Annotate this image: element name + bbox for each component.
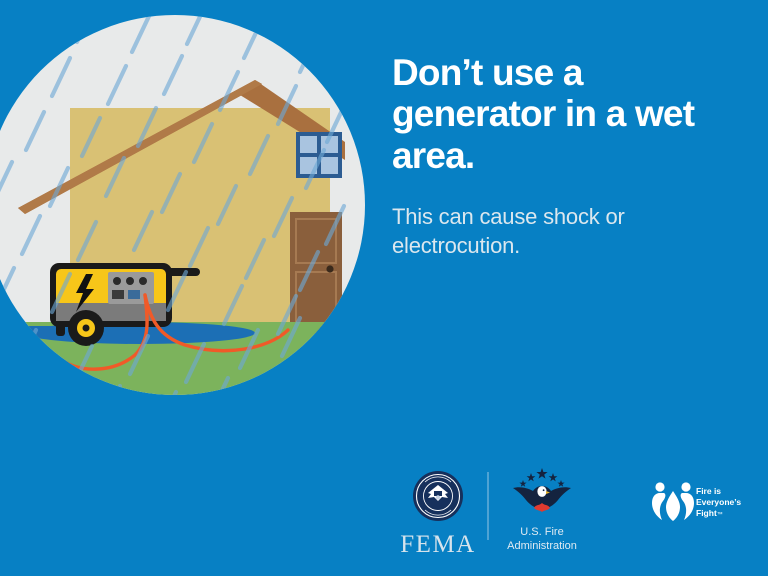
trademark-mark: ™ <box>717 512 723 518</box>
usfa-wordmark: U.S. Fire Administration <box>500 526 584 554</box>
page-title: Don’t use a generator in a wet area. <box>392 52 722 176</box>
usfa-logo: U.S. Fire Administration <box>500 466 584 554</box>
dhs-seal-icon <box>412 470 464 522</box>
text-column: Don’t use a generator in a wet area. Thi… <box>392 52 722 260</box>
usfa-wordmark-line2: Administration <box>500 540 584 554</box>
logo-divider <box>487 472 489 540</box>
usfa-wordmark-line1: U.S. Fire <box>500 526 584 540</box>
rain-circle <box>0 0 400 440</box>
doorknob <box>326 265 333 272</box>
subheading: This can cause shock or electrocution. <box>392 176 722 260</box>
usfa-eagle-icon <box>508 466 576 518</box>
feef-tagline-line1: Fire is <box>696 486 741 497</box>
feef-figures-icon <box>650 478 696 522</box>
fema-logo: FEMA <box>392 470 484 559</box>
feef-tagline: Fire is Everyone’s Fight™ <box>696 486 741 519</box>
fema-wordmark: FEMA <box>392 531 484 559</box>
generator-in-rain-illustration <box>0 0 400 440</box>
window <box>296 132 342 178</box>
logo-band: FEMA U.S. Fire Administ <box>0 460 768 560</box>
fire-is-everyones-fight-logo: Fire is Everyone’s Fight™ <box>650 478 750 527</box>
feef-tagline-line2: Everyone’s <box>696 497 741 508</box>
safety-poster: Don’t use a generator in a wet area. Thi… <box>0 0 768 576</box>
feef-tagline-line3: Fight™ <box>696 508 741 520</box>
